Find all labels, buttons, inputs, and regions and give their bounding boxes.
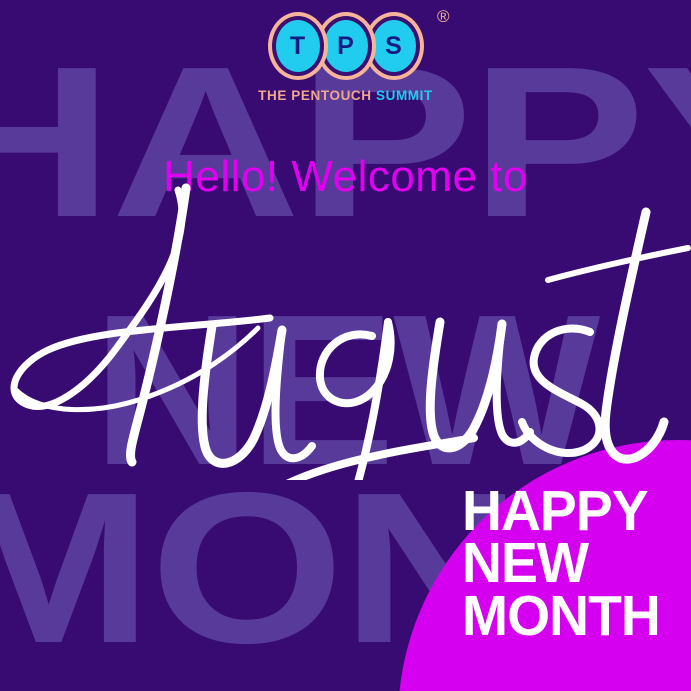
august-swash-group [14, 188, 688, 480]
august-letter-g-bowl [320, 322, 391, 403]
logo-wordmark-secondary: SUMMIT [376, 88, 433, 103]
august-letter-a-stem [130, 188, 186, 462]
logo-wordmark: THE PENTOUCH SUMMIT [258, 88, 433, 103]
logo-letter-t: T [290, 34, 305, 59]
logo-letter-s: S [385, 34, 402, 59]
logo-circle-t: T [268, 12, 328, 80]
august-letter-u2 [430, 322, 502, 448]
greeting-text: Hello! Welcome to [0, 155, 691, 199]
poster-canvas: HAPPY NEW MONTH T P S ® TH [0, 0, 691, 691]
badge-line-happy: HAPPY [462, 485, 660, 537]
august-letter-t-stem [605, 212, 664, 459]
tps-logo: T P S ® THE PENTOUCH SUMMIT [0, 10, 691, 103]
badge-line-month: MONTH [462, 590, 660, 642]
august-swash-a-upper [14, 190, 270, 407]
logo-wordmark-primary: THE PENTOUCH [258, 88, 371, 103]
august-swash-a-lower [16, 328, 258, 410]
august-letter-u-exit [276, 330, 312, 458]
august-letter-u [202, 326, 282, 463]
august-letter-u2-exit [497, 324, 530, 443]
august-letter-t-crossbar [548, 248, 688, 280]
logo-letter-p: P [337, 34, 354, 59]
logo-circles-group: T P S ® [268, 10, 424, 82]
august-letter-s [522, 328, 600, 453]
registered-trademark-icon: ® [437, 8, 450, 25]
badge-headline: HAPPY NEW MONTH [462, 485, 660, 642]
badge-line-new: NEW [462, 537, 660, 589]
august-letter-g-descender [233, 322, 474, 480]
